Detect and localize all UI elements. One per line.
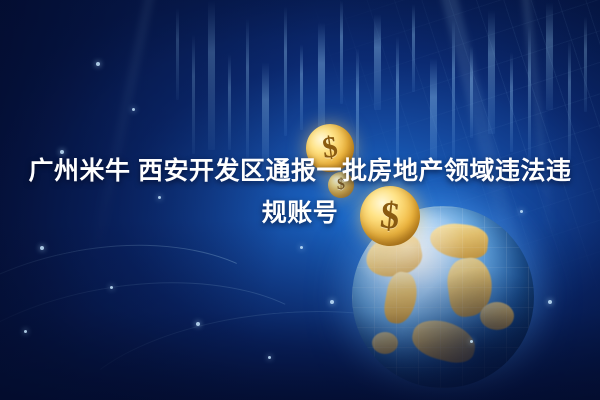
particle-dot xyxy=(24,330,27,333)
particle-dot xyxy=(96,62,100,66)
particle-dot xyxy=(110,286,113,289)
particle-dot xyxy=(548,300,552,304)
image-canvas: $ $ $ 广州米牛 西安开发区通报一批房地产领域违法违规账号 xyxy=(0,0,600,400)
particle-dot xyxy=(330,300,334,304)
particle-dot xyxy=(300,246,303,249)
headline-text: 广州米牛 西安开发区通报一批房地产领域违法违规账号 xyxy=(0,150,600,234)
particle-dot xyxy=(268,356,271,359)
particle-dot xyxy=(40,246,44,250)
particle-dot xyxy=(132,108,135,111)
particle-dot xyxy=(470,340,473,343)
particle-dot xyxy=(196,322,200,326)
